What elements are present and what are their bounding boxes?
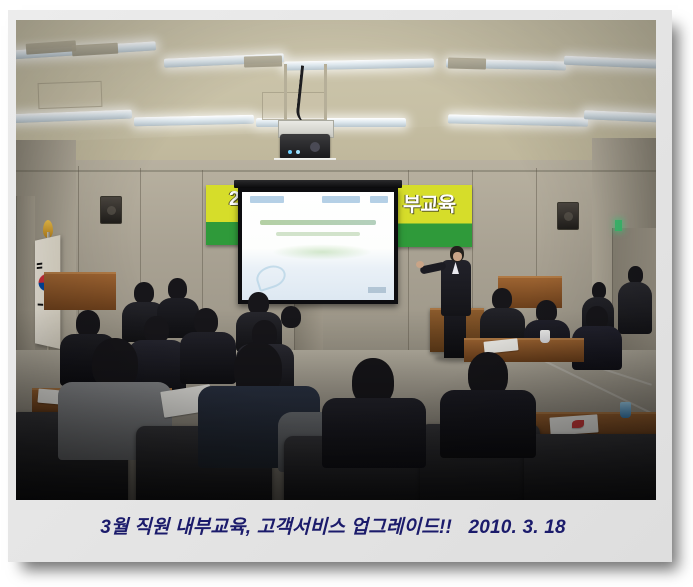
projection-screen-frame [238,188,398,304]
photo-caption: 3월 직원 내부교육, 고객서비스 업그레이드!! 2010. 3. 18 [8,512,672,539]
presenter-hand [416,261,424,268]
ceiling-vent [244,56,282,68]
presenter-face [453,252,462,261]
projector-mount-pole [284,64,287,124]
presenter-legs [444,314,466,358]
attendee-body [322,398,426,468]
slide-swirl-decoration [253,262,288,292]
wall-speaker-right [557,202,579,230]
projector-mount-pole [324,64,327,124]
projector-lens [310,142,320,152]
slide-footer-mark [368,287,386,293]
slide-graphic [272,244,372,260]
banner-right-text: 부교육 [386,188,472,217]
left-doorway [16,196,35,352]
slide-logo-left [250,196,284,203]
wall-trim [16,170,656,172]
trigram [37,263,42,266]
training-session-photograph: 20 부교육 [16,20,656,500]
attendee-body [180,332,236,384]
event-banner-right: 부교육 [386,185,472,247]
slide-logo-center [322,196,360,203]
attendee-head [492,288,512,310]
ceiling-projector [280,134,330,160]
drink-bottle [620,402,631,418]
ceiling-hatch [262,92,326,120]
seat-back [524,434,656,500]
projection-screen [242,192,394,300]
ceiling-hatch [38,81,103,109]
exit-sign-icon [615,220,622,231]
ceiling-vent [448,58,486,70]
standing-attendee-body [618,282,652,334]
attendee-head [134,282,154,304]
wall-speaker-left [100,196,122,224]
attendee-head [76,310,100,337]
attendee-head [168,278,187,300]
handout-logo [572,420,584,428]
slide-subtitle-line [276,232,360,236]
front-table-left [44,272,116,310]
attendee-head [194,308,218,335]
attendee-body [440,390,536,458]
trigram [38,304,44,306]
trigram [37,267,42,270]
projector-led [288,150,292,154]
screen-roller-housing [234,180,402,188]
attendee-head [281,306,301,328]
slide-title-line [260,220,376,225]
slide-logo-right [370,196,388,203]
paper-cup [540,330,550,343]
projector-led [296,150,300,154]
photo-frame: 20 부교육 [8,10,672,562]
photo-page: 20 부교육 [0,0,693,587]
